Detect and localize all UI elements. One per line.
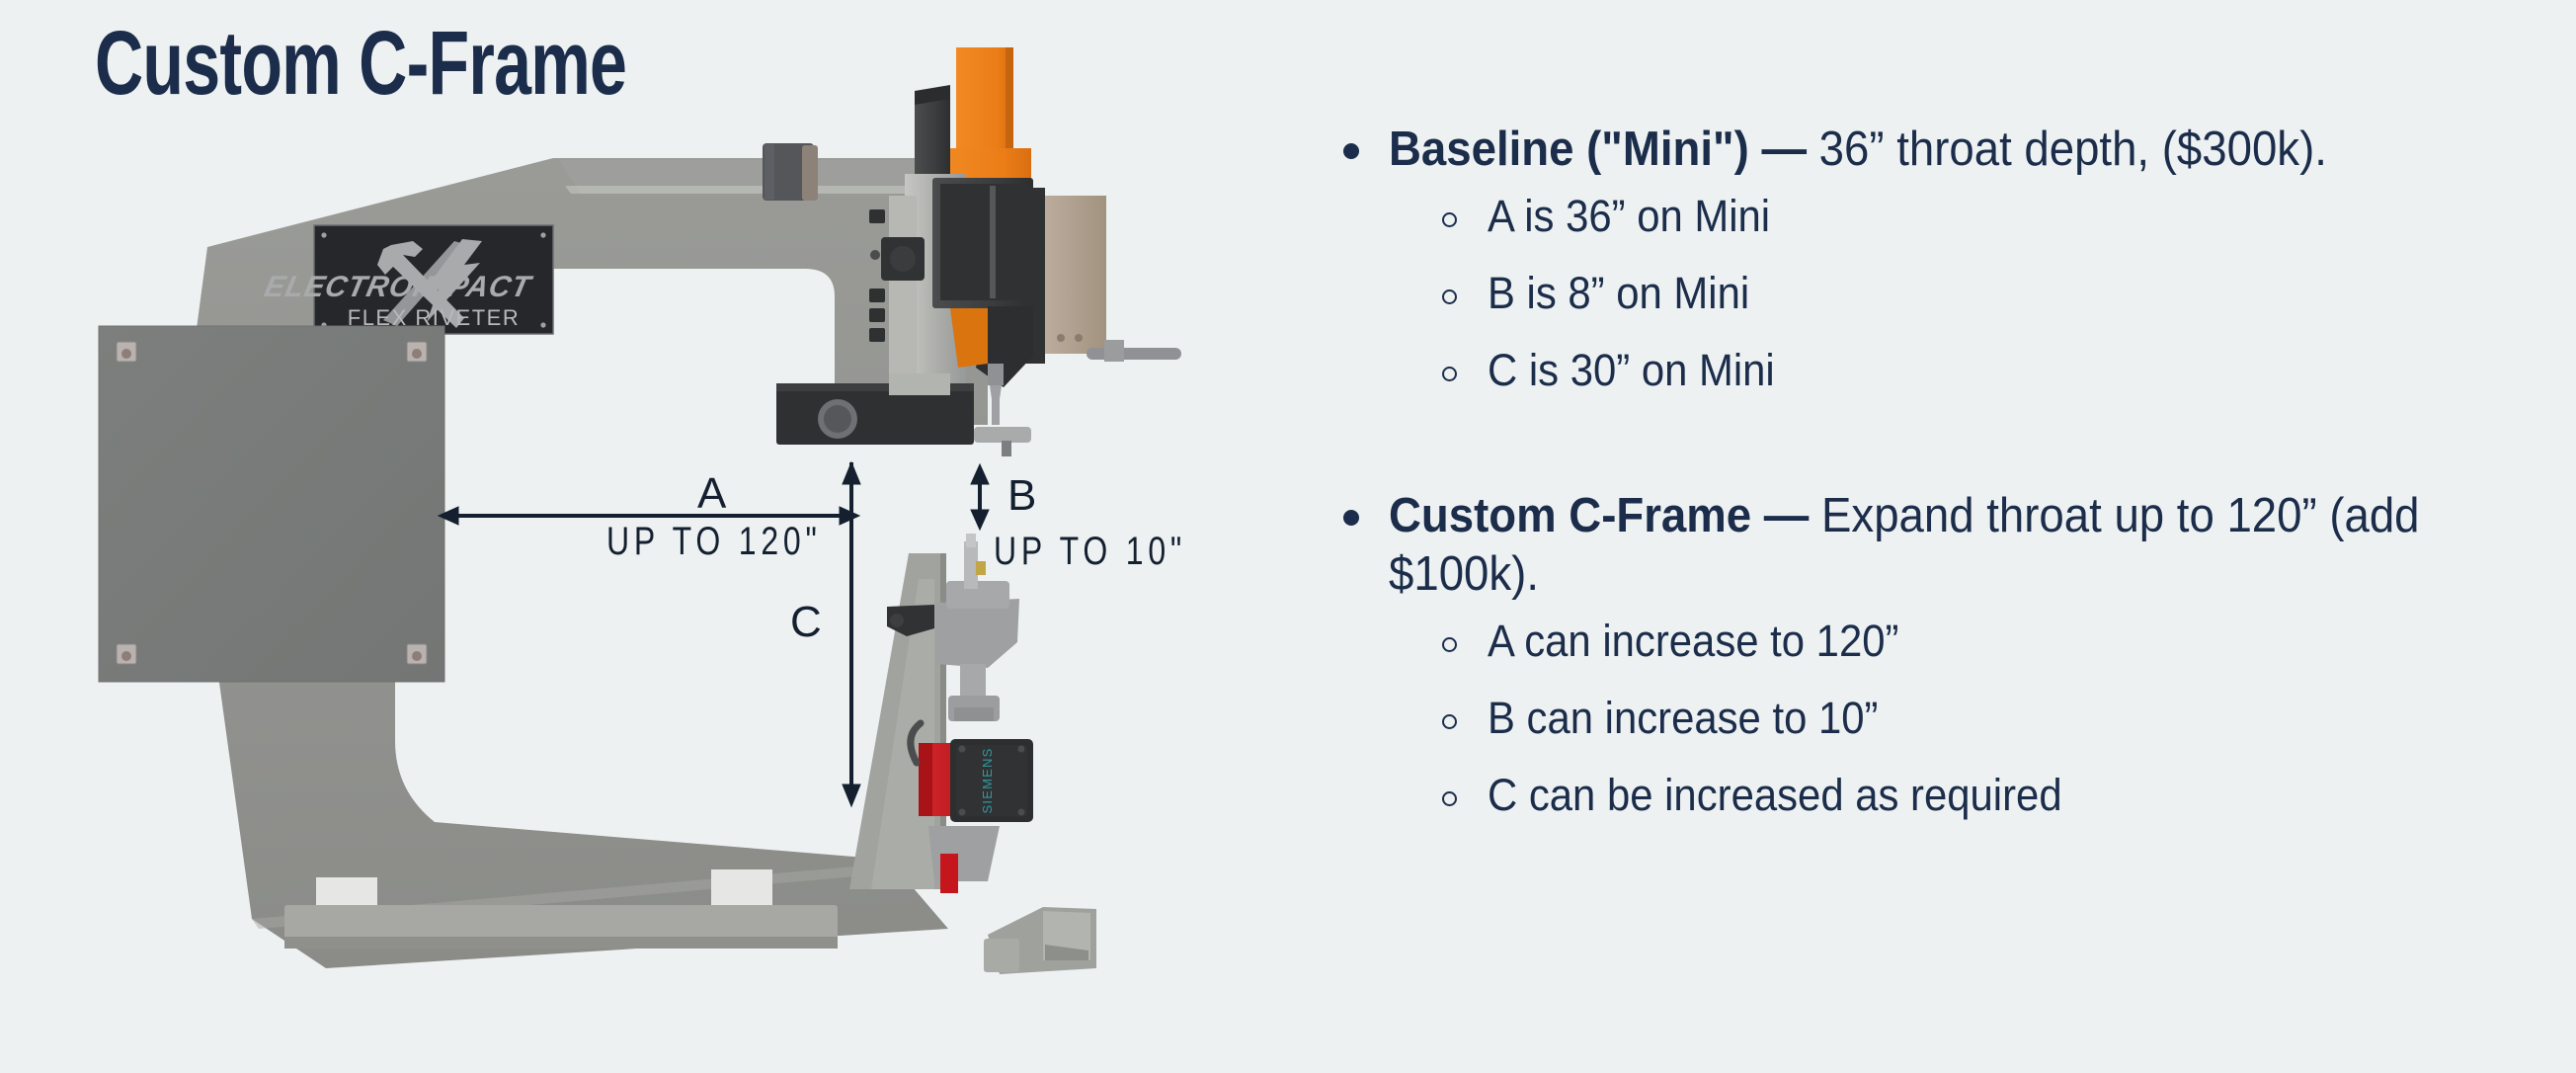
bullet-rest-baseline: 36” throat depth, ($300k).: [1807, 123, 2327, 176]
sub-bullet-text: B is 8” on Mini: [1488, 268, 1749, 319]
hollow-circle-bullet-icon: [1442, 289, 1457, 304]
sub-bullet-item: A is 36” on Mini: [1331, 191, 2546, 242]
dimension-value-a: UP TO 120": [606, 522, 822, 561]
spec-bullet-list: Baseline ("Mini") — 36” throat depth, ($…: [1331, 121, 2546, 848]
frame-access-panel: [99, 326, 444, 682]
bullet-strong-baseline: Baseline ("Mini") —: [1389, 123, 1807, 176]
sub-bullet-text: C is 30” on Mini: [1488, 345, 1775, 396]
dimension-label-a: A: [697, 472, 726, 516]
bullet-group-spacer: [1331, 422, 2546, 487]
detached-end-effector: [984, 907, 1096, 974]
filled-disc-bullet-icon: [1343, 510, 1359, 526]
sub-bullet-item: B can increase to 10”: [1331, 693, 2546, 744]
riveting-nose-tool: [988, 364, 1004, 425]
hollow-circle-bullet-icon: [1442, 791, 1457, 806]
hollow-circle-bullet-icon: [1442, 367, 1457, 381]
dimension-arrow-b: [971, 464, 989, 530]
slide-canvas: Custom C-Frame: [0, 0, 2576, 1073]
siemens-motor-label: SIEMENS: [980, 748, 995, 814]
hollow-circle-bullet-icon: [1442, 714, 1457, 729]
sub-bullet-text: A can increase to 120”: [1488, 616, 1898, 667]
sub-bullet-text: B can increase to 10”: [1488, 693, 1878, 744]
dimension-value-b: UP TO 10": [994, 532, 1186, 571]
bullet-item-baseline: Baseline ("Mini") — 36” throat depth, ($…: [1331, 121, 2546, 179]
sub-bullet-text: C can be increased as required: [1488, 770, 2062, 821]
bullet-strong-custom: Custom C-Frame —: [1389, 489, 1809, 542]
siemens-motor: SIEMENS: [950, 739, 1033, 822]
bullet-item-custom-c-frame: Custom C-Frame — Expand throat up to 120…: [1331, 487, 2546, 604]
sub-bullet-item: C is 30” on Mini: [1331, 345, 2546, 396]
logo-wordmark: ELECTROIMPACT: [262, 271, 535, 303]
dimension-label-b: B: [1007, 474, 1036, 518]
hollow-circle-bullet-icon: [1442, 212, 1457, 227]
sub-bullet-item: C can be increased as required: [1331, 770, 2546, 821]
sub-bullet-item: A can increase to 120”: [1331, 616, 2546, 667]
dimension-label-c: C: [790, 601, 822, 644]
sub-bullet-text: A is 36” on Mini: [1488, 191, 1770, 242]
sub-bullet-list-custom: A can increase to 120” B can increase to…: [1331, 616, 2546, 822]
sub-bullet-list-baseline: A is 36” on Mini B is 8” on Mini C is 30…: [1331, 191, 2546, 397]
hollow-circle-bullet-icon: [1442, 637, 1457, 652]
filled-disc-bullet-icon: [1343, 143, 1359, 159]
top-cylinder-module: [763, 143, 818, 201]
sub-bullet-item: B is 8” on Mini: [1331, 268, 2546, 319]
